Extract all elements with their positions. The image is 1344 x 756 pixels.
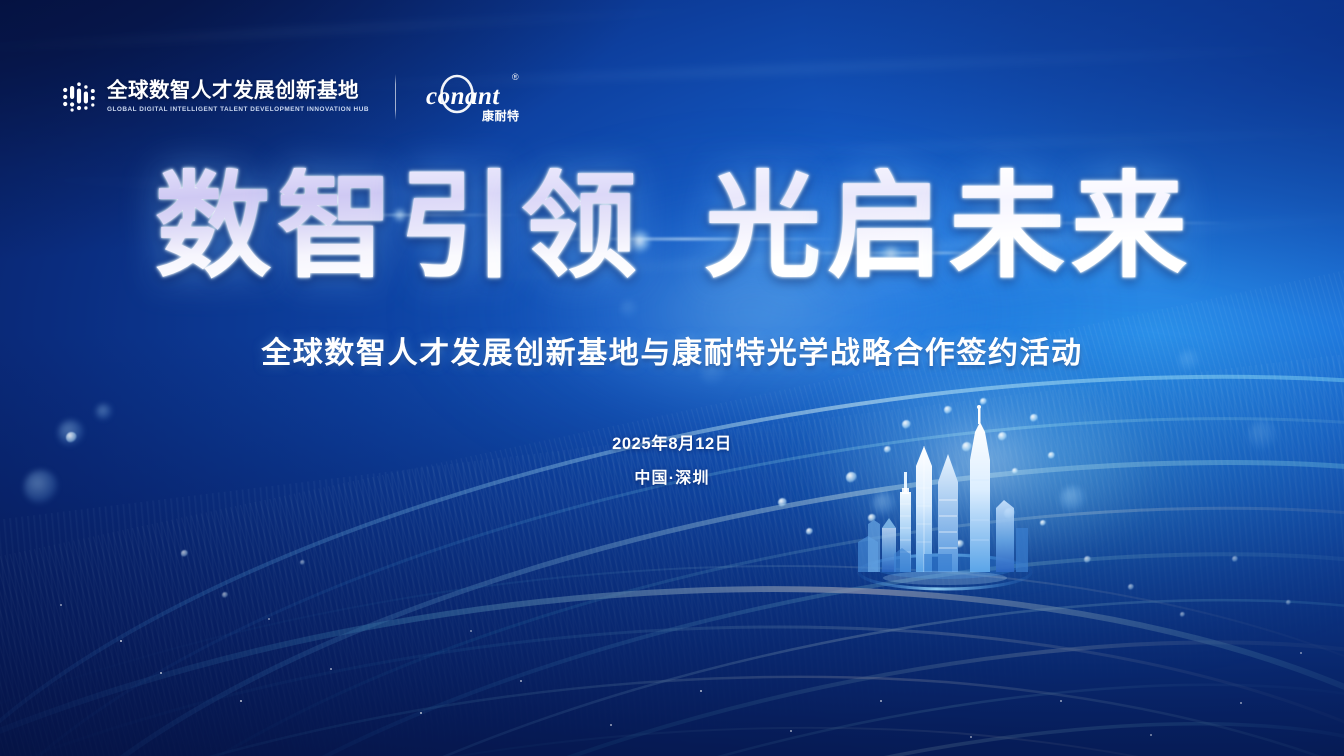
conant-wordmark: conant <box>426 83 500 110</box>
event-meta: 2025年8月12日 中国·深圳 <box>0 432 1344 491</box>
event-poster: 全球数智人才发展创新基地 GLOBAL DIGITAL INTELLIGENT … <box>0 0 1344 756</box>
title-char: 光 <box>703 168 825 284</box>
city-skyline-illustration <box>838 396 1052 596</box>
main-title-text: 数智引领 光启未来 <box>153 168 1191 284</box>
subtitle: 全球数智人才发展创新基地与康耐特光学战略合作签约活动 <box>0 328 1344 372</box>
title-char: 领 <box>519 168 641 284</box>
logo-divider <box>395 74 396 120</box>
hub-name-cn: 全球数智人才发展创新基地 <box>107 80 369 102</box>
title-char: 智 <box>275 168 397 284</box>
light-beam <box>0 3 806 55</box>
header-logos: 全球数智人才发展创新基地 GLOBAL DIGITAL INTELLIGENT … <box>62 68 530 126</box>
light-beam <box>592 125 1344 159</box>
registered-mark-icon: ® <box>512 72 519 82</box>
event-location: 中国·深圳 <box>0 467 1344 491</box>
hub-name-en: GLOBAL DIGITAL INTELLIGENT TALENT DEVELO… <box>107 105 369 115</box>
title-char: 来 <box>1069 168 1191 284</box>
event-date: 2025年8月12日 <box>0 432 1344 457</box>
dot-matrix-logo-icon <box>62 81 96 113</box>
title-segment-2: 光启未来 <box>703 168 1191 284</box>
hub-logo-text: 全球数智人才发展创新基地 GLOBAL DIGITAL INTELLIGENT … <box>107 80 369 115</box>
title-char: 引 <box>397 168 519 284</box>
title-char: 启 <box>825 168 947 284</box>
title-char: 数 <box>153 168 275 284</box>
conant-name-cn: 康耐特 <box>482 108 520 123</box>
title-segment-1: 数智引领 <box>153 168 641 284</box>
title-char: 未 <box>947 168 1069 284</box>
main-title: 数智引领 光启未来 <box>0 168 1344 284</box>
partner-logo-conant: conant ® 康耐特 <box>420 68 530 126</box>
